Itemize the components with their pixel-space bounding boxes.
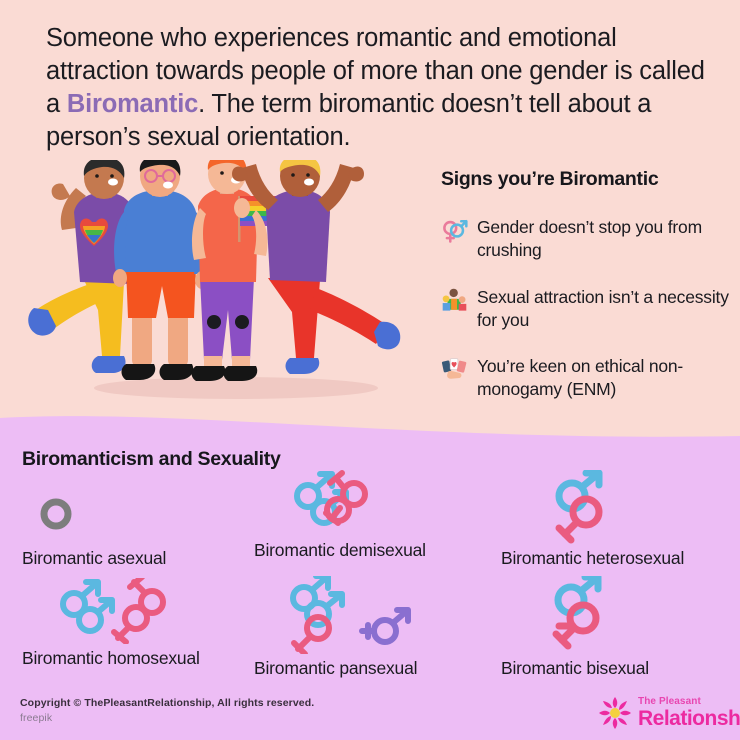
logo-line2: Relationship — [638, 708, 740, 729]
male-female-interlocked-icon — [501, 470, 641, 544]
logo-wordmark: The Pleasant Relationship — [638, 697, 740, 729]
logo-line1: The Pleasant — [638, 697, 740, 707]
pansexual-combined-icon — [254, 576, 434, 654]
four-friends-pride-illustration — [28, 160, 443, 405]
sign-item-0: Gender doesn’t stop you from crushing — [441, 216, 731, 262]
sexuality-item-3-label: Biromantic homosexual — [22, 648, 212, 669]
sign-item-2: You’re keen on ethical non-monogamy (ENM… — [441, 355, 731, 401]
flower-burst-icon — [598, 696, 632, 730]
infographic-canvas: Someone who experiences romantic and emo… — [0, 0, 740, 740]
signs-section-title: Signs you’re Biromantic — [441, 168, 658, 191]
pansexual-combined-icon-wrap — [254, 576, 434, 654]
brand-logo[interactable]: The Pleasant Relationship — [598, 692, 728, 734]
sexuality-section-title: Biromanticism and Sexuality — [22, 448, 280, 471]
sexuality-item-0-label: Biromantic asexual — [22, 548, 166, 569]
double-male-double-female-icon — [22, 578, 212, 644]
sexuality-item-3: Biromantic homosexual — [22, 586, 212, 669]
copyright-text: Copyright © ThePleasantRelationship, All… — [20, 697, 314, 709]
sexuality-item-5-label: Biromantic bisexual — [501, 658, 649, 679]
sign-item-1-text: Sexual attraction isn’t a necessity for … — [477, 286, 731, 332]
double-male-double-female-icon-wrap — [254, 478, 426, 536]
sexuality-item-1: Biromantic demisexual — [254, 478, 426, 561]
male-female-interlocked-icon — [441, 217, 468, 244]
double-male-double-female-icon — [254, 470, 384, 536]
asexual-ring-icon — [22, 486, 82, 544]
sign-item-2-text: You’re keen on ethical non-monogamy (ENM… — [477, 355, 731, 401]
male-female-interlocked-icon-wrap — [501, 470, 684, 544]
sexuality-item-5: Biromantic bisexual — [501, 576, 649, 679]
sexuality-item-1-label: Biromantic demisexual — [254, 540, 426, 561]
sign-item-0-text: Gender doesn’t stop you from crushing — [477, 216, 731, 262]
sexuality-item-4-label: Biromantic pansexual — [254, 658, 434, 679]
asexual-ring-icon-wrap — [22, 486, 166, 544]
double-male-double-female-icon-wrap-2 — [22, 586, 212, 644]
intro-highlight-biromantic: Biromantic — [67, 90, 198, 118]
image-credit-text: freepik — [20, 712, 52, 724]
sexuality-item-4: Biromantic pansexual — [254, 576, 434, 679]
male-female-interlocked-icon — [501, 576, 641, 654]
intro-paragraph: Someone who experiences romantic and emo… — [46, 22, 706, 154]
person-2 — [113, 160, 209, 380]
sexuality-item-0: Biromantic asexual — [22, 486, 166, 569]
hand-holding-cards-icon — [441, 356, 468, 383]
family-group-icon — [441, 287, 468, 314]
sign-item-1: Sexual attraction isn’t a necessity for … — [441, 286, 731, 332]
sexuality-item-2-label: Biromantic heterosexual — [501, 548, 684, 569]
person-4 — [232, 160, 400, 374]
male-female-interlocked-icon-wrap-2 — [501, 576, 649, 654]
sexuality-item-2: Biromantic heterosexual — [501, 470, 684, 569]
